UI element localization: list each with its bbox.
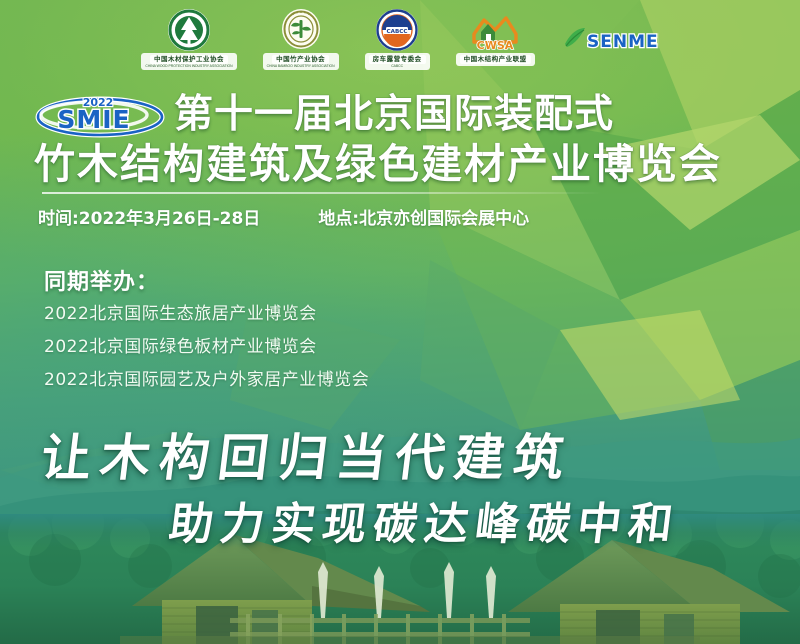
event-venue: 地点:北京亦创国际会展中心: [318, 204, 529, 229]
concurrent-event-item: 2022北京国际生态旅居产业博览会: [44, 306, 604, 323]
headline-line-2: 竹木结构建筑及绿色建材产业博览会: [34, 140, 722, 188]
round-cabcc-emblem-icon: CABCC: [375, 8, 419, 52]
smie-wordmark: SMIE: [57, 105, 130, 134]
headline-row-2: 竹木结构建筑及绿色建材产业博览会: [34, 140, 774, 188]
logo-sublabel: CHINA WOOD PROTECTION INDUSTRY ASSOCIATI…: [145, 64, 232, 68]
logo-senmei[interactable]: SENMEI: [561, 24, 659, 54]
headline-row-1: 2022 SMIE 第十一届北京国际装配式: [34, 92, 774, 138]
slogan-line-1: 让木构回归当代建筑: [38, 418, 578, 490]
event-date: 时间:2022年3月26日-28日: [38, 204, 260, 229]
exhibition-poster: 中国木材保护工业协会 CHINA WOOD PROTECTION INDUSTR…: [0, 0, 800, 644]
smie-brand-logo: 2022 SMIE: [34, 92, 166, 138]
logo-label: 中国木结构产业联盟: [460, 55, 531, 64]
headline-block: 2022 SMIE 第十一届北京国际装配式 竹木结构建筑及绿色建材产业博览会: [34, 92, 774, 188]
concurrent-events-title: 同期举办：: [44, 264, 604, 296]
slogan-block: 让木构回归当代建筑 助力实现碳达峰碳中和: [0, 418, 800, 538]
logo-bamboo-industry-association[interactable]: 中国竹产业协会 CHINA BAMBOO INDUSTRY ASSOCIATIO…: [263, 8, 339, 70]
oval-bamboo-emblem-icon: [281, 8, 321, 52]
svg-text:CWSA: CWSA: [477, 39, 514, 52]
svg-text:CABCC: CABCC: [387, 29, 408, 35]
poster-screenshot: 中国木材保护工业协会 CHINA WOOD PROTECTION INDUSTR…: [0, 0, 800, 644]
leaf-wordmark-icon: SENMEI: [561, 24, 659, 54]
logo-china-wood-protection-industry-association[interactable]: 中国木材保护工业协会 CHINA WOOD PROTECTION INDUSTR…: [141, 8, 236, 70]
logo-sublabel: CHINA BAMBOO INDUSTRY ASSOCIATION: [267, 64, 335, 68]
logo-cabcc-rv-camping-committee[interactable]: CABCC 房车露营专委会 CABCC: [365, 8, 430, 70]
concurrent-event-item: 2022北京国际园艺及户外家居产业博览会: [44, 372, 604, 389]
house-cwsa-emblem-icon: CWSA: [468, 12, 522, 52]
concurrent-event-item: 2022北京国际绿色板材产业博览会: [44, 339, 604, 356]
logo-label: 中国木材保护工业协会: [150, 55, 228, 64]
headline-line-1: 第十一届北京国际装配式: [174, 93, 614, 137]
slogan-line-2: 助力实现碳达峰碳中和: [166, 488, 684, 552]
organizer-logo-strip: 中国木材保护工业协会 CHINA WOOD PROTECTION INDUSTR…: [0, 6, 800, 72]
round-tree-emblem-icon: [167, 8, 211, 52]
logo-label: 房车露营专委会: [369, 55, 426, 64]
logo-sublabel: CABCC: [391, 64, 403, 68]
headline-divider: [42, 192, 602, 194]
event-meta: 时间:2022年3月26日-28日 地点:北京亦创国际会展中心: [38, 204, 758, 229]
svg-text:SENMEI: SENMEI: [587, 32, 659, 52]
logo-cwsa-china-wood-structure-alliance[interactable]: CWSA 中国木结构产业联盟: [456, 12, 535, 66]
logo-label: 中国竹产业协会: [272, 55, 329, 64]
concurrent-events: 同期举办： 2022北京国际生态旅居产业博览会 2022北京国际绿色板材产业博览…: [44, 264, 604, 405]
